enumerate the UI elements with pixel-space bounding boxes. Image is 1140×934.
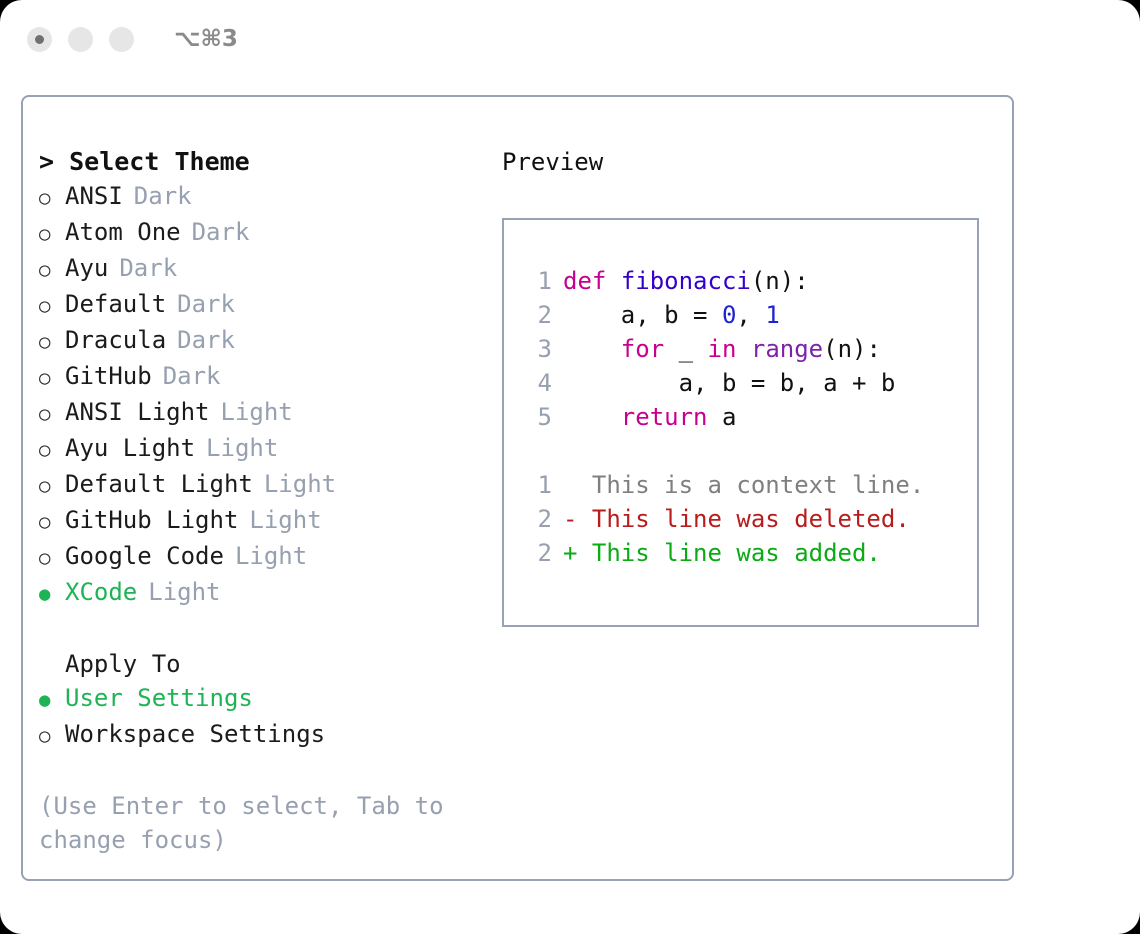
window-controls	[27, 27, 134, 52]
apply-to-option-name: User Settings	[65, 681, 253, 715]
theme-option-name: Ayu	[65, 251, 108, 285]
radio-unselected-icon: ○	[39, 181, 65, 215]
theme-option-google-code[interactable]: ○Google CodeLight	[39, 539, 489, 575]
theme-option-name: GitHub Light	[65, 503, 238, 537]
theme-option-kind: Dark	[134, 179, 192, 213]
code-token-kw: return	[621, 403, 708, 431]
theme-option-dracula[interactable]: ○DraculaDark	[39, 323, 489, 359]
code-token-fn: fibonacci	[621, 267, 751, 295]
diff-line: 2- This line was deleted.	[504, 502, 977, 536]
theme-option-kind: Light	[148, 575, 220, 609]
apply-to-option-name: Workspace Settings	[65, 717, 325, 751]
code-token-pl	[736, 335, 750, 363]
code-line-number: 1	[504, 264, 552, 298]
code-diff-spacer	[504, 434, 977, 468]
code-token-kw: def	[563, 267, 606, 295]
apply-to-option-user-settings[interactable]: ●User Settings	[39, 681, 489, 717]
app-window: ⌥⌘3 > Select Theme ○ANSIDark○Atom OneDar…	[0, 0, 1140, 934]
theme-option-kind: Light	[264, 467, 336, 501]
code-token-pl: a	[708, 403, 737, 431]
code-token-pl	[606, 267, 620, 295]
code-token-pl: (n):	[823, 335, 881, 363]
code-token-num: 0	[722, 301, 736, 329]
radio-unselected-icon: ○	[39, 469, 65, 503]
code-line-text: return a	[552, 400, 736, 434]
apply-to-title: Apply To	[39, 647, 489, 681]
theme-picker-column: > Select Theme ○ANSIDark○Atom OneDark○Ay…	[39, 145, 489, 857]
code-token-pl: a, b = b, a + b	[563, 369, 895, 397]
code-line-number: 5	[504, 400, 552, 434]
code-token-pl	[563, 403, 621, 431]
theme-option-kind: Dark	[163, 359, 221, 393]
select-theme-header: > Select Theme	[39, 145, 489, 179]
theme-list: ○ANSIDark○Atom OneDark○AyuDark○DefaultDa…	[39, 179, 489, 611]
preview-box: 1def fibonacci(n):2 a, b = 0, 13 for _ i…	[502, 218, 979, 627]
theme-option-kind: Light	[206, 431, 278, 465]
plain-dot-icon-1[interactable]	[68, 27, 93, 52]
theme-option-kind: Light	[221, 395, 293, 429]
radio-unselected-icon: ○	[39, 505, 65, 539]
radio-selected-icon: ●	[39, 577, 65, 611]
theme-option-default[interactable]: ○DefaultDark	[39, 287, 489, 323]
radio-unselected-icon: ○	[39, 719, 65, 753]
apply-to-option-workspace-settings[interactable]: ○Workspace Settings	[39, 717, 489, 753]
theme-option-name: XCode	[65, 575, 137, 609]
theme-option-atom-one[interactable]: ○Atom OneDark	[39, 215, 489, 251]
radio-unselected-icon: ○	[39, 397, 65, 431]
theme-option-ayu[interactable]: ○AyuDark	[39, 251, 489, 287]
theme-option-kind: Dark	[177, 323, 235, 357]
code-token-kw: for	[621, 335, 664, 363]
code-line-text: for _ in range(n):	[552, 332, 881, 366]
theme-option-name: Atom One	[65, 215, 181, 249]
theme-option-kind: Light	[235, 539, 307, 573]
theme-option-name: GitHub	[65, 359, 152, 393]
diff-line-number: 1	[504, 468, 552, 502]
title-bar: ⌥⌘3	[0, 0, 1140, 78]
record-dot-icon[interactable]	[27, 27, 52, 52]
code-token-pl	[563, 335, 621, 363]
code-token-num: 1	[765, 301, 779, 329]
code-token-pl: (n):	[751, 267, 809, 295]
theme-option-xcode[interactable]: ●XCodeLight	[39, 575, 489, 611]
code-line-text: a, b = b, a + b	[552, 366, 895, 400]
radio-unselected-icon: ○	[39, 361, 65, 395]
code-line-number: 2	[504, 298, 552, 332]
theme-option-name: Ayu Light	[65, 431, 195, 465]
code-sample: 1def fibonacci(n):2 a, b = 0, 13 for _ i…	[504, 264, 977, 434]
code-token-pl: ,	[736, 301, 765, 329]
theme-option-ansi[interactable]: ○ANSIDark	[39, 179, 489, 215]
radio-unselected-icon: ○	[39, 325, 65, 359]
section-spacer	[39, 611, 489, 647]
radio-unselected-icon: ○	[39, 217, 65, 251]
radio-unselected-icon: ○	[39, 289, 65, 323]
code-token-pl: _	[664, 335, 707, 363]
diff-line-text: This is a context line.	[552, 468, 924, 502]
keyboard-hint-text: (Use Enter to select, Tab to change focu…	[39, 789, 459, 857]
code-line: 4 a, b = b, a + b	[504, 366, 977, 400]
diff-line-text: - This line was deleted.	[552, 502, 910, 536]
theme-option-name: Dracula	[65, 323, 166, 357]
theme-option-github[interactable]: ○GitHubDark	[39, 359, 489, 395]
theme-option-name: Google Code	[65, 539, 224, 573]
main-panel: > Select Theme ○ANSIDark○Atom OneDark○Ay…	[21, 95, 1014, 881]
apply-to-list: ●User Settings○Workspace Settings	[39, 681, 489, 753]
code-line: 2 a, b = 0, 1	[504, 298, 977, 332]
theme-option-name: Default	[65, 287, 166, 321]
radio-unselected-icon: ○	[39, 433, 65, 467]
theme-option-name: Default Light	[65, 467, 253, 501]
code-line-number: 3	[504, 332, 552, 366]
code-line: 5 return a	[504, 400, 977, 434]
code-token-call: range	[751, 335, 823, 363]
record-dot-inner	[35, 35, 44, 44]
code-line-text: def fibonacci(n):	[552, 264, 809, 298]
radio-unselected-icon: ○	[39, 541, 65, 575]
code-line-number: 4	[504, 366, 552, 400]
theme-option-kind: Dark	[119, 251, 177, 285]
diff-line-number: 2	[504, 536, 552, 570]
preview-title: Preview	[502, 145, 1002, 179]
diff-line: 2+ This line was added.	[504, 536, 977, 570]
code-line: 3 for _ in range(n):	[504, 332, 977, 366]
plain-dot-icon-2[interactable]	[109, 27, 134, 52]
diff-sample: 1 This is a context line.2- This line wa…	[504, 468, 977, 570]
code-token-kw: in	[708, 335, 737, 363]
keyboard-shortcut-label: ⌥⌘3	[174, 26, 238, 52]
theme-option-ayu-light[interactable]: ○Ayu LightLight	[39, 431, 489, 467]
theme-option-github-light[interactable]: ○GitHub LightLight	[39, 503, 489, 539]
theme-option-name: ANSI Light	[65, 395, 210, 429]
radio-selected-icon: ●	[39, 683, 65, 717]
theme-option-default-light[interactable]: ○Default LightLight	[39, 467, 489, 503]
code-token-pl: a, b =	[563, 301, 722, 329]
theme-option-ansi-light[interactable]: ○ANSI LightLight	[39, 395, 489, 431]
preview-column: Preview 1def fibonacci(n):2 a, b = 0, 13…	[502, 145, 1002, 627]
theme-option-name: ANSI	[65, 179, 123, 213]
theme-option-kind: Dark	[192, 215, 250, 249]
theme-option-kind: Dark	[177, 287, 235, 321]
diff-line-text: + This line was added.	[552, 536, 881, 570]
diff-line: 1 This is a context line.	[504, 468, 977, 502]
code-line-text: a, b = 0, 1	[552, 298, 780, 332]
diff-line-number: 2	[504, 502, 552, 536]
code-line: 1def fibonacci(n):	[504, 264, 977, 298]
radio-unselected-icon: ○	[39, 253, 65, 287]
theme-option-kind: Light	[249, 503, 321, 537]
